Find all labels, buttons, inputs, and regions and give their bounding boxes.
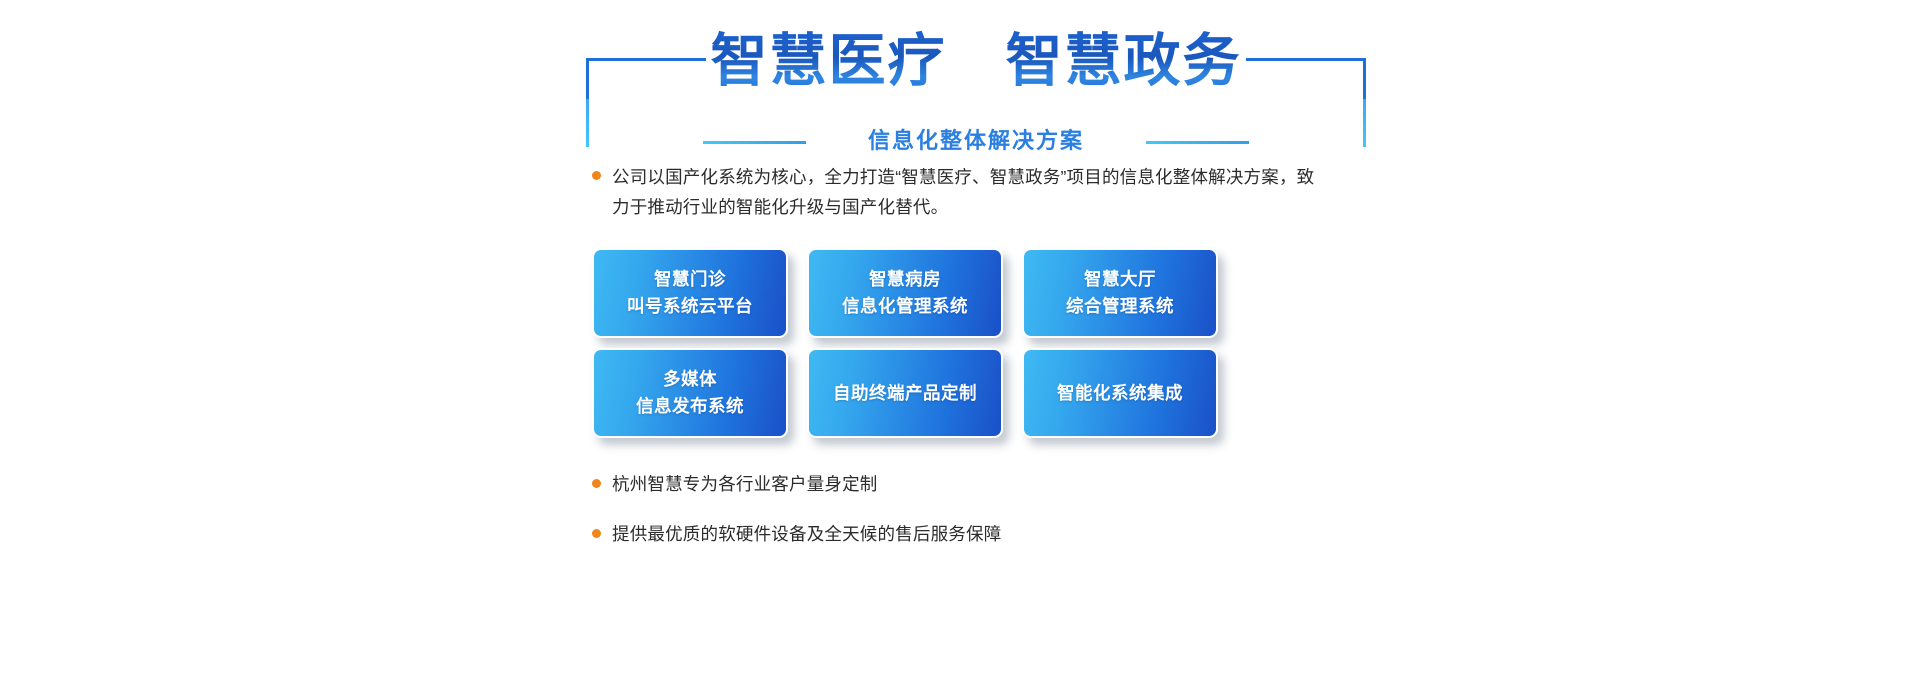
solution-card-label: 自助终端产品定制: [833, 380, 977, 407]
solution-card-label: 智慧门诊 叫号系统云平台: [627, 266, 753, 320]
bullet-dot-icon: [592, 479, 601, 488]
feature-bullet-list: 杭州智慧专为各行业客户量身定制 提供最优质的软硬件设备及全天候的售后服务保障: [592, 472, 1332, 572]
solution-card[interactable]: 智慧病房 信息化管理系统: [807, 248, 1003, 338]
page-root: 智慧医疗 智慧政务 信息化整体解决方案 公司以国产化系统为核心，全力打造“智慧医…: [0, 0, 1920, 680]
lead-paragraph: 公司以国产化系统为核心，全力打造“智慧医疗、智慧政务”项目的信息化整体解决方案，…: [592, 162, 1332, 222]
bullet-dot-icon: [592, 171, 601, 180]
solution-card[interactable]: 多媒体 信息发布系统: [592, 348, 788, 438]
list-item: 提供最优质的软硬件设备及全天候的售后服务保障: [592, 522, 1332, 546]
list-item: 杭州智慧专为各行业客户量身定制: [592, 472, 1332, 496]
solution-card[interactable]: 智慧大厅 综合管理系统: [1022, 248, 1218, 338]
list-item-label: 提供最优质的软硬件设备及全天候的售后服务保障: [612, 522, 1001, 546]
page-title: 智慧医疗 智慧政务: [586, 24, 1366, 98]
solution-card-label: 智慧病房 信息化管理系统: [842, 266, 968, 320]
solution-card-label: 多媒体 信息发布系统: [636, 366, 744, 420]
list-item-label: 杭州智慧专为各行业客户量身定制: [612, 472, 878, 496]
solution-card-grid: 智慧门诊 叫号系统云平台 智慧病房 信息化管理系统 智慧大厅 综合管理系统 多媒…: [592, 248, 1218, 438]
lead-paragraph-text: 公司以国产化系统为核心，全力打造“智慧医疗、智慧政务”项目的信息化整体解决方案，…: [612, 162, 1332, 222]
bullet-dot-icon: [592, 529, 601, 538]
title-block: 智慧医疗 智慧政务 信息化整体解决方案: [586, 24, 1366, 144]
solution-card[interactable]: 智能化系统集成: [1022, 348, 1218, 438]
page-subtitle: 信息化整体解决方案: [586, 123, 1366, 155]
solution-card-label: 智慧大厅 综合管理系统: [1066, 266, 1174, 320]
solution-card[interactable]: 自助终端产品定制: [807, 348, 1003, 438]
solution-card-label: 智能化系统集成: [1057, 380, 1183, 407]
solution-card[interactable]: 智慧门诊 叫号系统云平台: [592, 248, 788, 338]
